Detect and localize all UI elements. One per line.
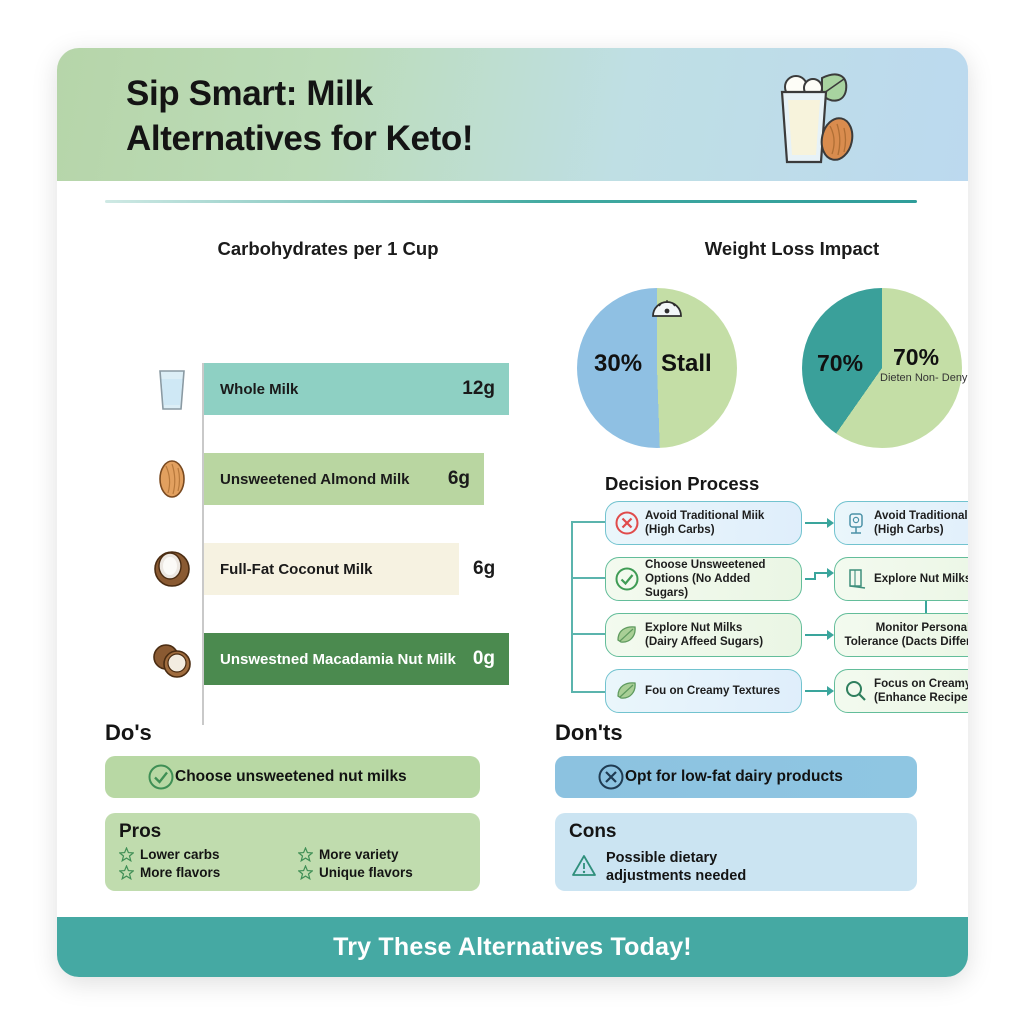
flow-box-text: Explore Nut Milks(Dairy Affeed Sugars) <box>645 621 763 648</box>
list-item: Lower carbs <box>119 847 294 862</box>
bar-row: Unsweetened Almond Milk 6g <box>105 453 525 505</box>
flow-box-text: Avoid Traditional Milk(High Carbs) <box>874 509 968 536</box>
footer-banner: Try These Alternatives Today! <box>57 917 968 977</box>
header-banner: Sip Smart: Milk Alternatives for Keto! <box>57 48 968 181</box>
bar-row: Whole Milk 12g <box>105 363 525 415</box>
flow-box-explore-nut-milks-left[interactable]: Explore Nut Milks(Dairy Affeed Sugars) <box>605 613 802 657</box>
cons-item: Possible dietary adjustments needed <box>571 849 746 885</box>
flow-box-text: Explore Nut Milks <box>874 572 968 586</box>
magnifier-icon <box>843 678 869 704</box>
pie-chart-title: Weight Loss Impact <box>597 238 968 260</box>
coconut-icon <box>151 545 193 593</box>
bar-value: 12g <box>462 378 495 400</box>
dos-pill[interactable]: Choose unsweetened nut milks <box>105 756 480 798</box>
flow-connector-branch <box>571 521 605 523</box>
macadamia-icon <box>151 635 193 683</box>
list-item: Unique flavors <box>298 865 473 880</box>
bar-value: 0g <box>473 648 495 670</box>
bar-label: Whole Milk <box>220 381 298 398</box>
flow-box-avoid-traditional-milk-right[interactable]: Avoid Traditional Milk(High Carbs) <box>834 501 968 545</box>
pros-panel: Pros Lower carbs More flavors More varie… <box>105 813 480 891</box>
bar-row: Full-Fat Coconut Milk 6g <box>105 543 525 595</box>
flow-box-text: Choose UnsweetenedOptions (No Added Suga… <box>645 558 793 599</box>
footer-cta-text: Try These Alternatives Today! <box>333 933 692 962</box>
x-circle-icon <box>597 763 625 791</box>
list-item: More flavors <box>119 865 294 880</box>
green-check-circle-icon <box>614 566 640 592</box>
bar-label: Full-Fat Coconut Milk <box>220 561 372 578</box>
flow-connector-branch <box>571 691 605 693</box>
red-x-circle-icon <box>614 510 640 536</box>
bottle-icon <box>843 510 869 536</box>
flow-box-text: Avoid Traditional Miik(High Carbs) <box>645 509 764 536</box>
milk-glass-almond-leaf-icon <box>760 62 880 172</box>
list-item: More variety <box>298 847 473 862</box>
bar-macadamia-milk: Unswestned Macadamia Nut Milk 0g <box>204 633 509 685</box>
donts-heading: Don'ts <box>555 720 623 746</box>
decision-process-flow: Decision Process Avoid Traditional Miik(… <box>562 473 968 748</box>
cons-panel: Cons Possible dietary adjustments needed <box>555 813 917 891</box>
donts-pill[interactable]: Opt for low-fat dairy products <box>555 756 917 798</box>
bar-label: Unswestned Macadamia Nut Milk <box>220 651 456 668</box>
pie-left-value-green: Stall <box>661 350 712 378</box>
carb-chart-title: Carbohydrates per 1 Cup <box>173 238 483 260</box>
flow-box-focus-creamy-textures[interactable]: Fou on Creamy Textures <box>605 669 802 713</box>
bar-value: 6g <box>448 468 470 490</box>
infographic-card: Sip Smart: Milk Alternatives for Keto! C… <box>57 48 968 977</box>
star-icon <box>298 865 313 880</box>
pros-list-left: Lower carbs More flavors <box>119 847 294 883</box>
page-title: Sip Smart: Milk Alternatives for Keto! <box>126 72 726 162</box>
flow-box-avoid-traditional-milk-left[interactable]: Avoid Traditional Miik(High Carbs) <box>605 501 802 545</box>
bar-whole-milk: Whole Milk 12g <box>204 363 509 415</box>
cons-title: Cons <box>569 821 617 843</box>
dos-heading: Do's <box>105 720 152 746</box>
flow-box-monitor-tolerance[interactable]: Monitor PersonalTolerance (Dacts Differe… <box>834 613 968 657</box>
flow-box-choose-unsweetened[interactable]: Choose UnsweetenedOptions (No Added Suga… <box>605 557 802 601</box>
flow-box-text: Monitor PersonalTolerance (Dacts Differe… <box>843 621 968 648</box>
carton-icon <box>843 566 869 592</box>
almond-icon <box>151 455 193 503</box>
star-icon <box>298 847 313 862</box>
donts-pill-text: Opt for low-fat dairy products <box>625 768 843 786</box>
weight-loss-pie-group: 30% Stall 70% 70% Dieten Non- Deny <box>577 288 968 453</box>
flow-box-text: Focus on Creamy(Enhance Recipes) <box>874 677 968 704</box>
pie-right-value-teal: 70% <box>817 350 863 377</box>
pie-right-value-green: 70% <box>893 344 939 371</box>
flow-connector-branch <box>571 633 605 635</box>
milk-glass-icon <box>151 365 193 413</box>
star-icon <box>119 865 134 880</box>
bar-almond-milk: Unsweetened Almond Milk 6g <box>204 453 484 505</box>
flow-arrow-icon <box>805 683 835 699</box>
star-icon <box>119 847 134 862</box>
scale-icon <box>650 292 684 318</box>
bar-row: Unswestned Macadamia Nut Milk 0g <box>105 633 525 685</box>
leaf-icon <box>614 622 640 648</box>
bar-label: Unsweetened Almond Milk <box>220 471 409 488</box>
warning-triangle-icon <box>571 853 597 879</box>
cons-text: Possible dietary adjustments needed <box>606 849 746 885</box>
dos-pill-text: Choose unsweetened nut milks <box>175 768 407 786</box>
header-divider <box>105 200 917 203</box>
flow-connector-trunk <box>571 521 573 693</box>
flow-arrow-icon <box>805 565 835 581</box>
title-line-1: Sip Smart: Milk <box>126 74 373 113</box>
carb-bar-chart: Whole Milk 12g Unsweetened Almond Milk 6… <box>105 303 525 743</box>
flow-connector-branch <box>571 577 605 579</box>
pie-left-value-blue: 30% <box>594 350 642 378</box>
check-circle-icon <box>147 763 175 791</box>
pie-right-sublabel: Dieten Non- Deny <box>880 372 967 384</box>
flow-title: Decision Process <box>605 473 759 495</box>
bar-coconut-milk: Full-Fat Coconut Milk <box>204 543 459 595</box>
flow-box-focus-creamy[interactable]: Focus on Creamy(Enhance Recipes) <box>834 669 968 713</box>
flow-box-text: Fou on Creamy Textures <box>645 684 780 698</box>
bar-value: 6g <box>473 558 495 580</box>
flow-arrow-icon <box>805 515 835 531</box>
title-line-2: Alternatives for Keto! <box>126 119 473 158</box>
leaf-icon <box>614 678 640 704</box>
flow-box-explore-nut-milks-right[interactable]: Explore Nut Milks <box>834 557 968 601</box>
flow-arrow-icon <box>805 627 835 643</box>
pros-list-right: More variety Unique flavors <box>298 847 473 883</box>
pros-title: Pros <box>119 821 161 843</box>
